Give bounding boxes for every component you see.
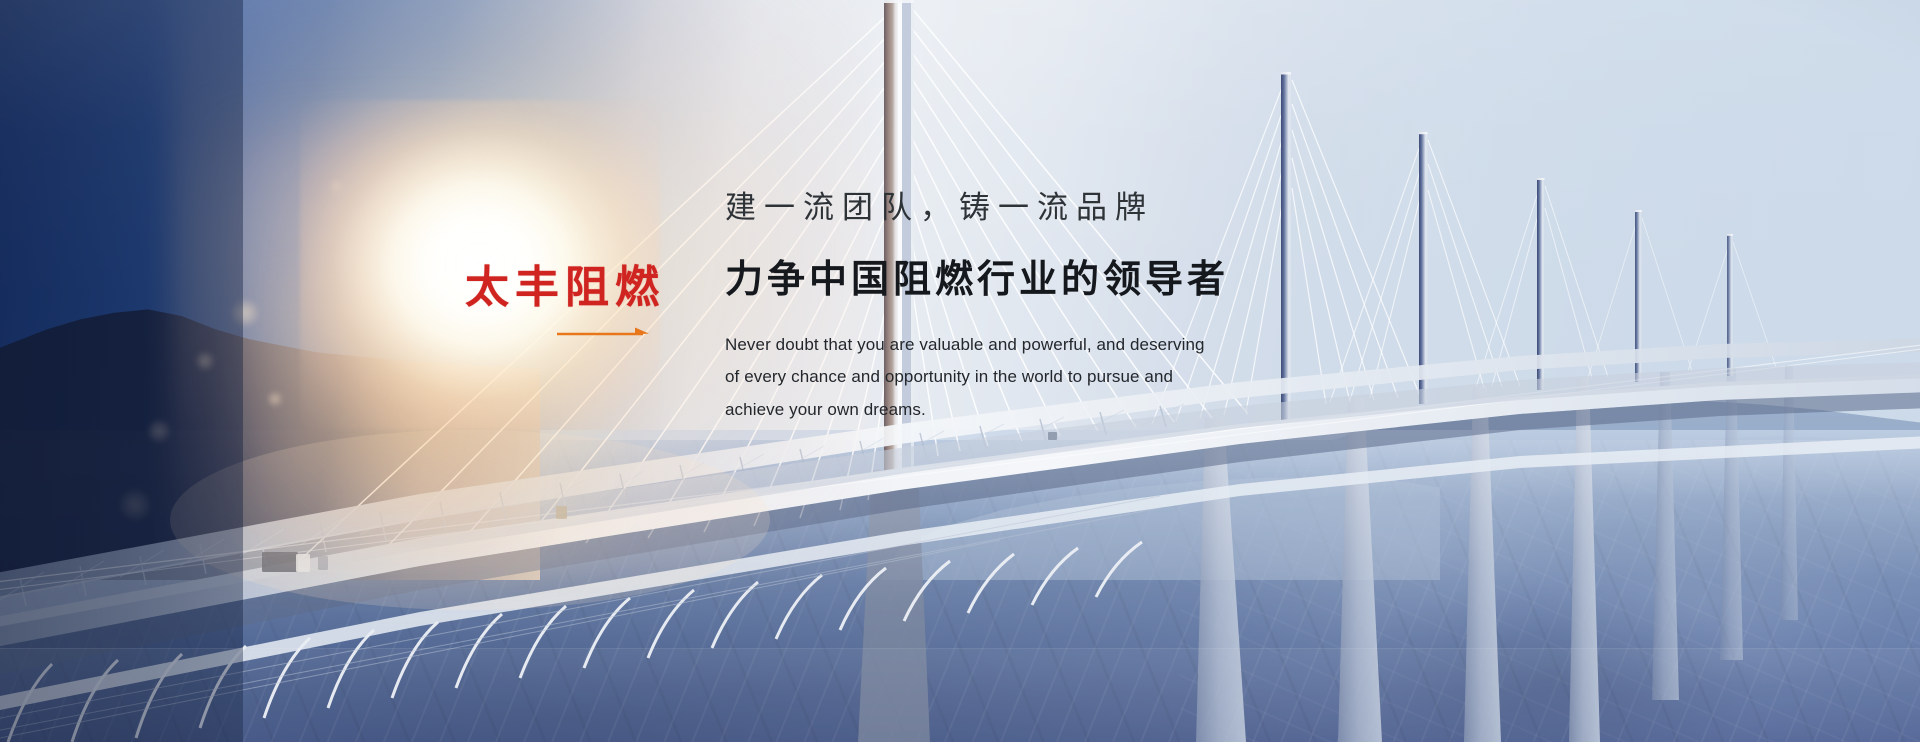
subheadline: 建一流团队，铸一流品牌 <box>725 190 1365 227</box>
brand-logo-text: 太丰阻燃 <box>465 266 665 310</box>
copy-block: 建一流团队，铸一流品牌 力争中国阻燃行业的领导者 Never doubt tha… <box>725 190 1365 427</box>
hero-banner: 太丰阻燃 建一流团队，铸一流品牌 力争中国阻燃行业的领导者 Never doub… <box>0 0 1920 742</box>
description-text: Never doubt that you are valuable and po… <box>725 329 1365 427</box>
banner-content: 太丰阻燃 建一流团队，铸一流品牌 力争中国阻燃行业的领导者 Never doub… <box>0 0 1920 742</box>
arrow-right-icon <box>557 326 653 340</box>
page-title: 力争中国阻燃行业的领导者 <box>725 257 1365 303</box>
brand-logo[interactable]: 太丰阻燃 <box>465 266 665 310</box>
